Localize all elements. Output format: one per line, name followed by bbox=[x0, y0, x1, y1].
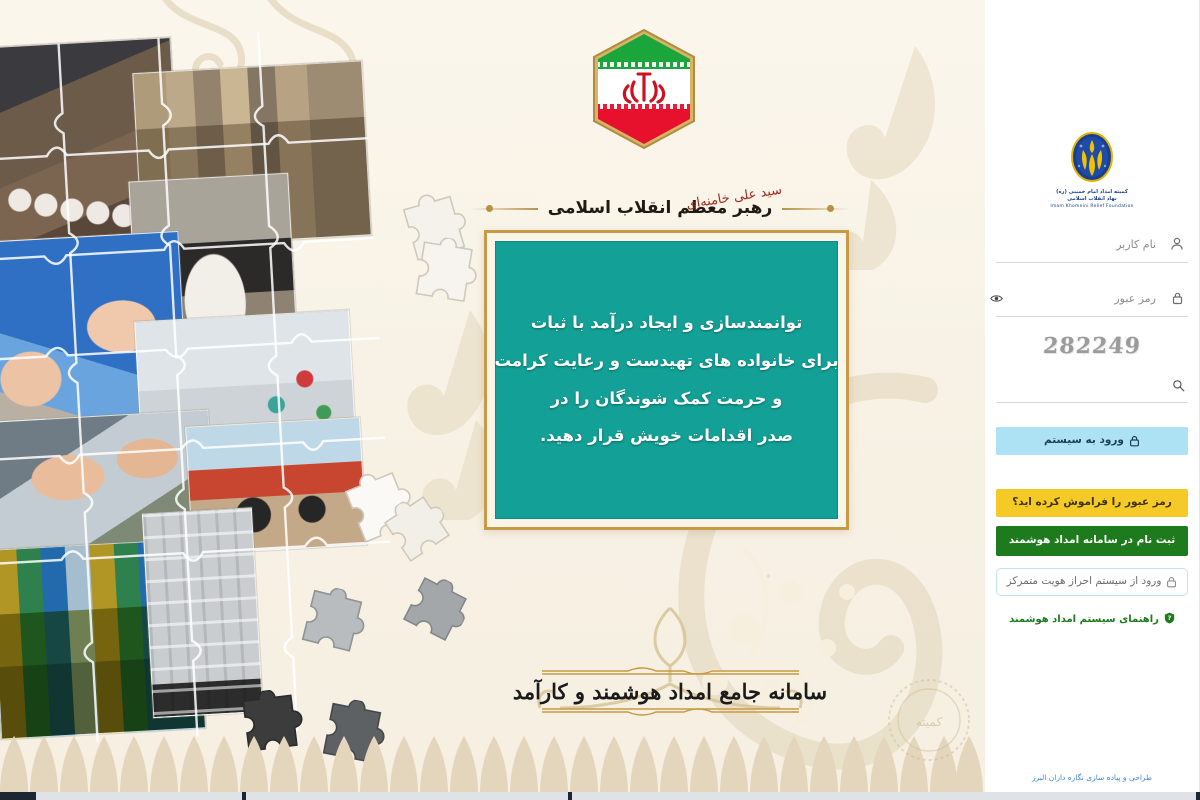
quote-line: برای خانواده های تهیدست و رعایت کرامت bbox=[494, 351, 838, 372]
forgot-password-button[interactable]: رمز عبور را فراموش کرده اید؟ bbox=[996, 489, 1188, 517]
password-input[interactable] bbox=[1005, 292, 1162, 305]
svg-text:?: ? bbox=[1168, 614, 1172, 622]
system-title-rule-bottom bbox=[538, 708, 803, 718]
quote-line: توانمندسازی و ایجاد درآمد با ثبات bbox=[531, 313, 803, 334]
puzzle-piece-loose-2 bbox=[407, 233, 485, 313]
quote-line: صدر اقدامات خویش قرار دهید. bbox=[540, 426, 793, 447]
captcha-block: 282249 bbox=[996, 331, 1188, 403]
lock-icon bbox=[1166, 576, 1177, 588]
forgot-password-label: رمز عبور را فراموش کرده اید؟ bbox=[1012, 497, 1172, 508]
login-panel: کمیته امداد امام خمینی (ره) نهاد انقلاب … bbox=[985, 0, 1200, 800]
taskbar-segment bbox=[572, 792, 1196, 800]
username-input[interactable] bbox=[996, 238, 1162, 251]
photo-collage bbox=[0, 7, 430, 769]
quote-line: و حرمت کمک شوندگان را در bbox=[551, 389, 783, 410]
help-guide-label: راهنمای سیستم امداد هوشمند bbox=[1009, 614, 1159, 625]
brand-text: کمیته امداد امام خمینی (ره) نهاد انقلاب … bbox=[1050, 189, 1133, 209]
sso-login-button[interactable]: ورود از سیستم احراز هویت متمرکز bbox=[996, 568, 1188, 596]
captcha-image: 282249 bbox=[1031, 331, 1153, 361]
username-field-row bbox=[996, 227, 1188, 263]
sso-login-label: ورود از سیستم احراز هویت متمرکز bbox=[1007, 576, 1162, 587]
brand-line-en: Imam Khomeini Relief Foundation bbox=[1050, 204, 1133, 209]
system-title: سامانه جامع امداد هوشمند و کارآمد bbox=[513, 675, 827, 708]
system-title-block: سامانه جامع امداد هوشمند و کارآمد bbox=[520, 648, 820, 734]
quote-card: توانمندسازی و ایجاد درآمد با ثبات برای خ… bbox=[495, 241, 838, 519]
login-page: رهبر معظم انقلاب اسلامی سید علی خامنه‌ای… bbox=[0, 0, 1200, 800]
hero-panel: رهبر معظم انقلاب اسلامی سید علی خامنه‌ای… bbox=[0, 0, 985, 800]
lock-icon bbox=[1166, 287, 1188, 309]
iran-flag-hexagon-emblem bbox=[592, 28, 696, 150]
leader-dot-right bbox=[827, 205, 834, 212]
login-button[interactable]: ورود به سیستم bbox=[996, 427, 1188, 455]
help-guide-link[interactable]: ? راهنمای سیستم امداد هوشمند bbox=[1009, 612, 1175, 627]
brand-line-fa-1: کمیته امداد امام خمینی (ره) bbox=[1050, 189, 1133, 195]
taskbar-segment bbox=[36, 792, 242, 800]
help-badge-icon: ? bbox=[1164, 612, 1175, 627]
captcha-field-row bbox=[996, 369, 1188, 403]
captcha-input[interactable] bbox=[996, 379, 1166, 392]
login-button-label: ورود به سیستم bbox=[1044, 435, 1124, 446]
svg-text:کمیته: کمیته bbox=[916, 715, 943, 729]
brand-block: کمیته امداد امام خمینی (ره) نهاد انقلاب … bbox=[1050, 132, 1133, 209]
bottom-picket-strip bbox=[0, 736, 985, 794]
system-title-rule-top bbox=[538, 665, 803, 675]
eye-icon[interactable] bbox=[987, 289, 1005, 307]
password-field-row bbox=[996, 281, 1188, 317]
lock-icon bbox=[1129, 435, 1140, 447]
leader-dot-left bbox=[486, 205, 493, 212]
user-icon bbox=[1166, 233, 1188, 255]
signup-label: ثبت نام در سامانه امداد هوشمند bbox=[1009, 535, 1175, 546]
brand-line-fa-2: نهاد انقلاب اسلامی bbox=[1050, 196, 1133, 202]
taskbar-segment bbox=[246, 792, 568, 800]
refresh-icon[interactable] bbox=[1168, 375, 1188, 395]
quote-frame: توانمندسازی و ایجاد درآمد با ثبات برای خ… bbox=[484, 230, 849, 530]
leader-header: رهبر معظم انقلاب اسلامی سید علی خامنه‌ای bbox=[470, 188, 850, 228]
os-taskbar bbox=[0, 792, 1200, 800]
panel-footer-credit: طراحی و پیاده سازی نگاره داران البرز bbox=[985, 773, 1199, 782]
imam-khomeini-relief-foundation-logo bbox=[1069, 132, 1115, 186]
signup-button[interactable]: ثبت نام در سامانه امداد هوشمند bbox=[996, 526, 1188, 556]
